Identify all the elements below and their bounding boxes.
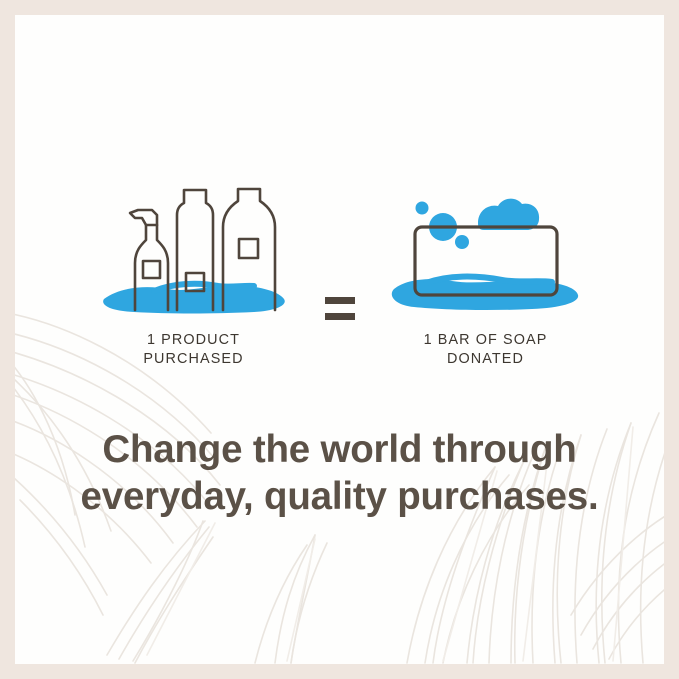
product-purchased-caption: 1 PRODUCT PURCHASED <box>143 331 243 370</box>
page-headline: Change the world through everyday, quali… <box>15 427 664 521</box>
soap-donated-caption: 1 BAR OF SOAP DONATED <box>424 331 548 370</box>
soap-donated-block: 1 BAR OF SOAP DONATED <box>371 185 601 370</box>
promotional-poster: 1 PRODUCT PURCHASED <box>0 0 679 679</box>
equals-bar-top <box>325 297 355 304</box>
equals-bar-bottom <box>325 313 355 320</box>
equals-sign-icon <box>309 241 371 376</box>
soap-bar-with-bubbles-icon <box>386 185 586 320</box>
poster-canvas: 1 PRODUCT PURCHASED <box>15 15 664 664</box>
three-product-bottles-icon <box>94 185 294 320</box>
give-back-promise-row: 1 PRODUCT PURCHASED <box>15 185 664 385</box>
product-purchased-block: 1 PRODUCT PURCHASED <box>79 185 309 370</box>
